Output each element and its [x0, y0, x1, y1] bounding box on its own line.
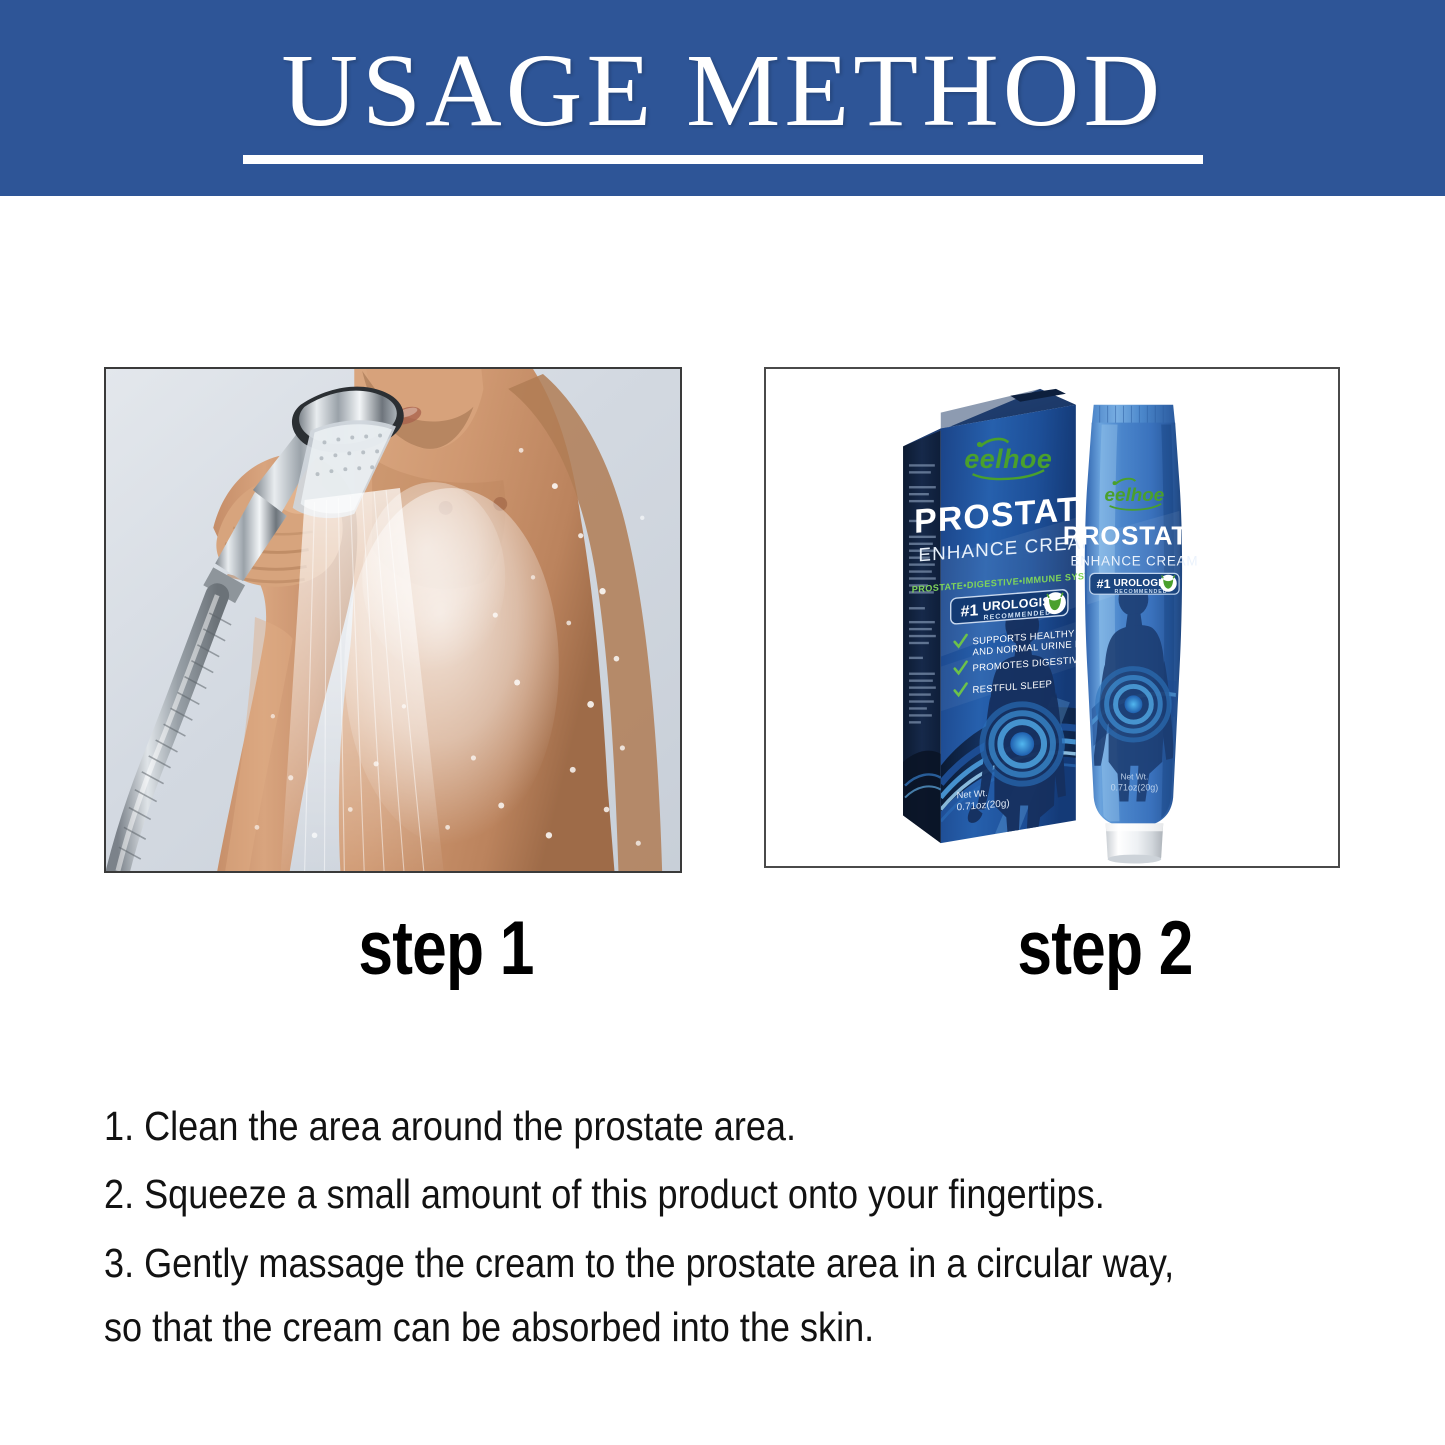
svg-text:PROSTATE: PROSTATE: [1063, 523, 1206, 551]
prostate-rings-icon: [982, 704, 1061, 783]
svg-text:eelhoe: eelhoe: [964, 444, 1052, 474]
instruction-line-4: so that the cream can be absorbed into t…: [104, 1296, 1239, 1358]
svg-text:RECOMMENDED: RECOMMENDED: [1115, 589, 1168, 595]
brand-logo-box: eelhoe: [964, 439, 1052, 479]
product-box-and-tube-photo: eelhoe PROSTATE ENHANCE CREAM PROSTATE•D…: [766, 369, 1338, 866]
instruction-line-3: 3. Gently massage the cream to the prost…: [104, 1232, 1239, 1294]
svg-text:#1: #1: [1097, 577, 1111, 591]
title-underline: [243, 155, 1203, 164]
header-banner: USAGE METHOD: [0, 0, 1445, 196]
step-2-image-frame: eelhoe PROSTATE ENHANCE CREAM PROSTATE•D…: [764, 367, 1340, 868]
svg-text:ENHANCE CREAM: ENHANCE CREAM: [1071, 553, 1199, 568]
instructions-block: 1. Clean the area around the prostate ar…: [104, 1095, 1394, 1364]
instruction-line-2: 2. Squeeze a small amount of this produc…: [104, 1163, 1239, 1225]
step-1-label: step 1: [282, 905, 610, 992]
page-title: USAGE METHOD: [281, 39, 1164, 143]
svg-text:0.71oz(20g): 0.71oz(20g): [1111, 783, 1159, 793]
step-2-label: step 2: [941, 905, 1269, 992]
svg-text:#1: #1: [961, 602, 979, 620]
svg-text:eelhoe: eelhoe: [1105, 484, 1165, 505]
urologist-badge-tube: #1 UROLOGIST RECOMMENDED: [1090, 573, 1179, 595]
svg-text:Net Wt.: Net Wt.: [1121, 772, 1149, 782]
step-1-image-frame: [104, 367, 682, 873]
instruction-line-1: 1. Clean the area around the prostate ar…: [104, 1095, 1239, 1157]
man-showering-photo: [106, 369, 680, 871]
